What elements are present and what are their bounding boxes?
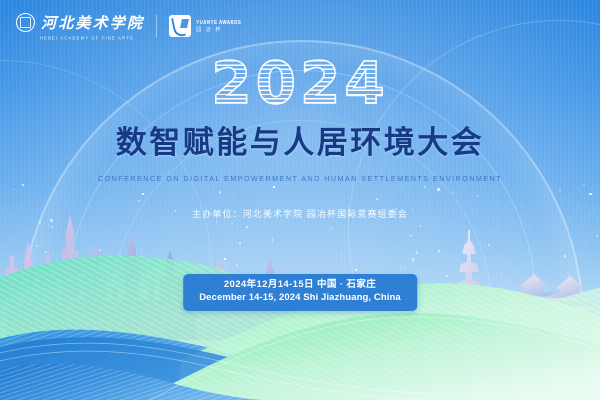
circular-seal-icon <box>16 13 35 32</box>
award-name-en: YUANYE AWARDS <box>196 19 241 26</box>
particle-dot <box>221 348 223 350</box>
particle-dot <box>14 189 15 190</box>
particle-dot <box>559 190 560 191</box>
particle-dot <box>246 226 248 228</box>
particle-dot <box>138 200 140 202</box>
particle-dot <box>224 258 227 261</box>
particle-dot <box>142 193 144 195</box>
logo-divider <box>156 15 157 37</box>
particle-dot <box>237 342 239 344</box>
organizer-line: 主办单位：河北美术学院 园冶杯国际竞赛组委会 <box>0 207 600 220</box>
particle-dot <box>589 193 592 196</box>
particle-dot <box>19 306 21 308</box>
particle-dot <box>273 186 275 188</box>
particle-dot <box>376 198 378 200</box>
particle-dot <box>410 235 412 237</box>
particle-dot <box>338 330 340 332</box>
university-name-cn: 河北美术学院 <box>41 12 144 33</box>
particle-dot <box>437 188 440 191</box>
conference-banner: 河北美术学院 HEBEI ACADEMY OF FINE ARTS YUANYE… <box>0 0 600 400</box>
particle-dot <box>22 184 24 186</box>
particle-dot <box>537 322 539 324</box>
particle-dot <box>75 258 77 260</box>
particle-dot <box>518 194 519 195</box>
particle-dot <box>357 335 358 336</box>
yuanye-award-mark-icon <box>169 15 191 37</box>
particle-dot <box>561 275 563 277</box>
particle-dot <box>9 303 11 305</box>
particle-dot <box>458 346 460 348</box>
particle-dot <box>516 193 517 194</box>
wave-front <box>0 364 262 400</box>
year-2024: 2024 <box>211 54 388 112</box>
particle-dot <box>416 251 418 253</box>
particle-dot <box>119 274 120 275</box>
event-date-cn: 2024年12月14-15日 中国 · 石家庄 <box>199 279 401 292</box>
particle-dot <box>582 327 584 329</box>
year-block: 2024 <box>0 54 600 112</box>
particle-dot <box>198 344 199 345</box>
particle-dot <box>438 250 440 252</box>
arc-ring-middle <box>65 70 537 400</box>
particle-dot <box>501 272 502 273</box>
particle-dot <box>446 292 448 294</box>
particle-dot <box>137 298 140 301</box>
particle-dot <box>340 255 342 257</box>
award-logo[interactable]: YUANYE AWARDS 园 冶 杯 <box>169 15 241 37</box>
particle-dot <box>141 251 142 252</box>
particle-dot <box>303 340 304 341</box>
particle-dot <box>579 232 580 233</box>
particle-dot <box>80 275 81 276</box>
particle-dot <box>477 195 479 197</box>
particle-dot <box>219 327 220 328</box>
particle-dot <box>412 258 414 260</box>
particle-dot <box>29 310 31 312</box>
particle-dot <box>446 275 448 277</box>
particle-dot <box>188 315 190 317</box>
particle-dot <box>36 245 38 247</box>
header-logos: 河北美术学院 HEBEI ACADEMY OF FINE ARTS YUANYE… <box>16 12 241 40</box>
particle-dot <box>216 221 218 223</box>
particle-dot <box>294 335 295 336</box>
particle-dot <box>258 328 260 330</box>
award-name-cn: 园 冶 杯 <box>196 27 241 33</box>
particle-dot <box>106 289 108 291</box>
particle-dot <box>419 330 421 332</box>
particle-dot <box>401 329 403 331</box>
wave-back <box>0 330 600 400</box>
particle-dot <box>68 337 69 338</box>
particle-dot <box>34 285 35 286</box>
particle-dot <box>14 354 16 356</box>
particle-dot <box>48 225 49 226</box>
particle-dot <box>520 341 521 342</box>
particle-dot <box>59 322 61 324</box>
particle-dot <box>355 269 357 271</box>
particle-dot <box>322 326 324 328</box>
particle-dot <box>566 287 568 289</box>
particle-dot <box>261 352 263 354</box>
page-subtitle-en: CONFERENCE ON DIGITAL EMPOWERMENT AND HU… <box>0 174 600 183</box>
particle-dot <box>478 321 480 323</box>
hill-front <box>0 337 600 400</box>
particle-dot <box>70 272 72 274</box>
particle-dot <box>213 188 215 190</box>
arc-ring-inner <box>110 120 492 400</box>
particle-dot <box>402 184 404 186</box>
particle-dot <box>239 242 241 244</box>
particle-dot <box>108 322 110 324</box>
particle-dot <box>219 191 221 193</box>
particle-dot <box>452 192 454 194</box>
particle-dot <box>567 273 569 275</box>
particle-dot <box>74 342 76 344</box>
particle-dot <box>506 312 508 314</box>
event-date-en: December 14-15, 2024 Shi Jiazhuang, Chin… <box>199 292 401 305</box>
chinese-gate-silhouette <box>510 274 594 346</box>
particle-dot <box>45 251 47 253</box>
particle-dot <box>571 290 573 292</box>
particle-dot <box>488 244 490 246</box>
chinese-pagoda-silhouette <box>448 230 490 360</box>
particle-dot <box>99 249 101 251</box>
university-name-en: HEBEI ACADEMY OF FINE ARTS <box>40 35 134 41</box>
particle-dot <box>424 186 426 188</box>
particle-dot <box>51 226 53 228</box>
particle-dot <box>39 221 41 223</box>
hill-front-green <box>140 313 600 400</box>
particle-dot <box>564 255 566 257</box>
particle-dot <box>519 307 522 310</box>
particle-dot <box>234 196 235 197</box>
particle-dot <box>596 235 599 238</box>
particle-dot <box>400 267 401 268</box>
particle-dot <box>23 310 25 312</box>
particle-dot <box>399 317 401 319</box>
particle-dot <box>236 264 238 266</box>
particle-dot <box>575 261 577 263</box>
particle-dot <box>231 223 233 225</box>
particle-dot <box>448 345 450 347</box>
particle-dot <box>228 272 229 273</box>
university-logo[interactable]: 河北美术学院 HEBEI ACADEMY OF FINE ARTS <box>16 12 144 40</box>
event-date-badge: 2024年12月14-15日 中国 · 石家庄 December 14-15, … <box>183 274 417 311</box>
particle-dot <box>583 184 585 186</box>
particle-dot <box>330 228 331 229</box>
particle-dot <box>420 225 422 227</box>
particle-dot <box>140 275 142 277</box>
page-title: 数智赋能与人居环境大会 <box>0 126 600 162</box>
particle-dot <box>272 239 274 241</box>
particle-dot <box>441 285 442 286</box>
particle-dot <box>100 283 102 285</box>
particle-dot <box>72 249 74 251</box>
particle-dot <box>370 322 371 323</box>
